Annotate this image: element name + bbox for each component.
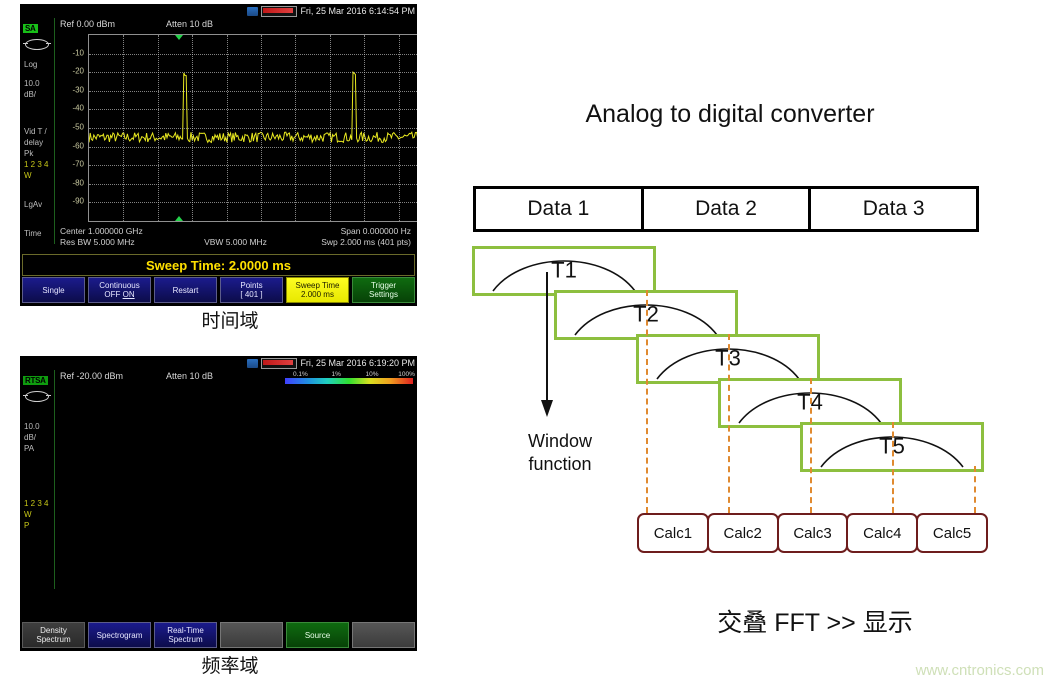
- softkey-label-line1: Continuous: [99, 281, 139, 290]
- softkey-label-line1: Density Spectrum: [23, 626, 84, 644]
- clock-label: Fri, 25 Mar 2016 6:19:20 PM: [300, 358, 415, 368]
- sidebar-item-delay: delay: [24, 138, 54, 147]
- mode-badge[interactable]: SA: [23, 24, 38, 33]
- softkey-label-line2: Settings: [369, 290, 398, 299]
- y-axis-tick: -50: [72, 123, 84, 132]
- grid-line: [158, 35, 159, 221]
- softkey-label-line2: OFF ON: [104, 290, 134, 299]
- trace-graph-sa[interactable]: [88, 34, 417, 222]
- sidebar-item-w: W: [24, 171, 54, 180]
- spectrum-analyzer-sa[interactable]: Fri, 25 Mar 2016 6:14:54 PM SA Log 10.0 …: [20, 4, 417, 306]
- attenuation-label: Atten 10 dB: [166, 19, 213, 29]
- dashed-connector: [974, 466, 976, 513]
- grid-line: [89, 165, 417, 166]
- sidebar-item-scale-unit: dB/: [24, 433, 54, 442]
- grid-line: [89, 109, 417, 110]
- softkey-button[interactable]: Spectrogram: [88, 622, 151, 648]
- footer-sa: Center 1.000000 GHz Span 0.000000 Hz Res…: [56, 226, 415, 250]
- data-blocks-row: Data 1 Data 2 Data 3: [473, 186, 979, 232]
- calc-block: Calc3: [777, 513, 849, 553]
- sidebar-item-p: P: [24, 521, 54, 530]
- data-block: Data 3: [811, 189, 976, 229]
- battery-icon: [261, 6, 297, 17]
- y-axis-tick: -60: [72, 141, 84, 150]
- calc-block: Calc5: [916, 513, 988, 553]
- softkey-button[interactable]: Single: [22, 277, 85, 303]
- softkey-label-line1: Spectrogram: [97, 631, 143, 640]
- softkey-bar-rtsa[interactable]: Density SpectrumSpectrogramReal-TimeSpec…: [22, 622, 415, 648]
- y-axis-labels-sa: -10-20-30-40-50-60-70-80-90: [56, 34, 86, 220]
- grid-line: [330, 35, 331, 221]
- grid-line: [89, 54, 417, 55]
- sweep-label: Swp 2.000 ms (401 pts): [321, 237, 411, 247]
- window-function-label-line: function: [500, 453, 620, 476]
- antenna-icon: [25, 391, 49, 402]
- softkey-label-line1: Single: [42, 286, 64, 295]
- softkey-button[interactable]: [220, 622, 283, 648]
- color-bar-tick: 100%: [398, 371, 415, 378]
- softkey-button[interactable]: [352, 622, 415, 648]
- vbw-label: VBW 5.000 MHz: [204, 237, 267, 247]
- grid-line: [399, 35, 400, 221]
- sidebar-rtsa: RTSA 10.0 dB/ PA 1 2 3 4 W P: [22, 370, 55, 589]
- watermark: www.cntronics.com: [916, 662, 1044, 679]
- grid-line: [295, 35, 296, 221]
- softkey-label-line1: Sweep Time: [295, 281, 339, 290]
- sidebar-item-lgav: LgAv: [24, 200, 54, 209]
- window-function-label-line: Window: [500, 430, 620, 453]
- system-icons-sa: Fri, 25 Mar 2016 6:14:54 PM: [247, 4, 415, 18]
- status-bar-rtsa: Fri, 25 Mar 2016 6:19:20 PM: [20, 356, 417, 370]
- window-box-label: T5: [879, 433, 905, 459]
- softkey-button[interactable]: Real-TimeSpectrum: [154, 622, 217, 648]
- y-axis-tick: -70: [72, 160, 84, 169]
- sidebar-item-vidt: Vid T /: [24, 127, 54, 136]
- color-bar-tick: 1%: [331, 371, 340, 378]
- network-icon: [247, 359, 258, 368]
- y-axis-tick: -30: [72, 85, 84, 94]
- attenuation-label: Atten 10 dB: [166, 371, 213, 381]
- grid-line: [192, 35, 193, 221]
- grid-line: [89, 184, 417, 185]
- density-color-bar: 0.1%1%10%100%: [285, 371, 413, 384]
- res-bw-label: Res BW 5.000 MHz: [60, 237, 135, 247]
- color-bar-tick: 0.1%: [293, 371, 308, 378]
- caption-time-domain: 时间域: [130, 306, 330, 333]
- softkey-label-line2: 2.000 ms: [301, 290, 334, 299]
- grid-line: [89, 202, 417, 203]
- softkey-label-line1: Source: [305, 631, 330, 640]
- sidebar-item-scale-unit: dB/: [24, 90, 54, 99]
- status-bar-sa: Fri, 25 Mar 2016 6:14:54 PM: [20, 4, 417, 18]
- mode-badge[interactable]: RTSA: [23, 376, 48, 385]
- sweep-time-banner: Sweep Time: 2.0000 ms: [22, 254, 415, 276]
- softkey-button[interactable]: Restart: [154, 277, 217, 303]
- sidebar-sa: SA Log 10.0 dB/ Vid T / delay Pk 1 2 3 4…: [22, 18, 55, 244]
- clock-label: Fri, 25 Mar 2016 6:14:54 PM: [300, 6, 415, 16]
- softkey-button[interactable]: Source: [286, 622, 349, 648]
- grid-line: [261, 35, 262, 221]
- grid-line: [89, 72, 417, 73]
- sidebar-item-pa: PA: [24, 444, 54, 453]
- sidebar-item-pk: Pk: [24, 149, 54, 158]
- sidebar-item-w: W: [24, 510, 54, 519]
- calc-blocks-row: Calc1 Calc2 Calc3 Calc4 Calc5: [637, 513, 988, 553]
- y-axis-tick: -80: [72, 178, 84, 187]
- calc-block: Calc2: [707, 513, 779, 553]
- softkey-label-line1: Real-Time: [167, 626, 204, 635]
- window-box: T1: [472, 246, 656, 296]
- sidebar-item-traces: 1 2 3 4: [24, 160, 54, 169]
- caption-frequency-domain: 频率域: [130, 651, 330, 678]
- sidebar-item-scale-value: 10.0: [24, 422, 54, 431]
- softkey-button[interactable]: TriggerSettings: [352, 277, 415, 303]
- softkey-bar-sa[interactable]: SingleContinuousOFF ONRestartPoints[ 401…: [22, 277, 415, 303]
- data-block: Data 1: [476, 189, 644, 229]
- spectrum-analyzer-rtsa[interactable]: Fri, 25 Mar 2016 6:19:20 PM RTSA 10.0 dB…: [20, 356, 417, 651]
- system-icons-rtsa: Fri, 25 Mar 2016 6:19:20 PM: [247, 356, 415, 370]
- color-bar-tick: 10%: [366, 371, 379, 378]
- ref-level-label: Ref 0.00 dBm: [60, 19, 115, 29]
- sidebar-item-traces: 1 2 3 4: [24, 499, 54, 508]
- softkey-label-line2: Spectrum: [168, 635, 202, 644]
- grid-line: [89, 91, 417, 92]
- window-box-label: T1: [551, 257, 577, 283]
- diagram-title: Analog to digital converter: [470, 100, 990, 129]
- grid-line: [89, 147, 417, 148]
- span-label: Span 0.000000 Hz: [341, 226, 411, 236]
- y-axis-tick: -40: [72, 104, 84, 113]
- data-block: Data 2: [644, 189, 812, 229]
- antenna-icon: [25, 39, 49, 50]
- bottom-caption: 交叠 FFT >> 显示: [640, 603, 990, 639]
- sidebar-item-scale-value: 10.0: [24, 79, 54, 88]
- softkey-button[interactable]: Points[ 401 ]: [220, 277, 283, 303]
- window-box-label: T2: [633, 301, 659, 327]
- y-axis-tick: -90: [72, 197, 84, 206]
- calc-block: Calc4: [846, 513, 918, 553]
- window-function-label: Windowfunction: [500, 430, 620, 476]
- softkey-button[interactable]: Density Spectrum: [22, 622, 85, 648]
- network-icon: [247, 7, 258, 16]
- calc-block: Calc1: [637, 513, 709, 553]
- window-function-arrow-icon: [535, 272, 559, 417]
- softkey-button[interactable]: ContinuousOFF ON: [88, 277, 151, 303]
- ref-level-label: Ref -20.00 dBm: [60, 371, 123, 381]
- sidebar-item-time: Time: [24, 229, 54, 238]
- center-freq-label: Center 1.000000 GHz: [60, 226, 143, 236]
- softkey-label-line1: Restart: [173, 286, 199, 295]
- sidebar-item-log: Log: [24, 60, 54, 69]
- grid-line: [364, 35, 365, 221]
- softkey-label-line2: [ 401 ]: [240, 290, 262, 299]
- reference-line-sa: Ref 0.00 dBm Atten 10 dB: [56, 18, 415, 32]
- softkey-label-line1: Points: [240, 281, 262, 290]
- grid-line: [89, 128, 417, 129]
- grid-line: [227, 35, 228, 221]
- y-axis-tick: -20: [72, 67, 84, 76]
- density-color-bar-ticks: 0.1%1%10%100%: [285, 371, 413, 378]
- window-box-label: T3: [715, 345, 741, 371]
- window-box-label: T4: [797, 389, 823, 415]
- grid-line: [123, 35, 124, 221]
- softkey-label-line1: Trigger: [371, 281, 396, 290]
- y-axis-tick: -10: [72, 48, 84, 57]
- battery-icon: [261, 358, 297, 369]
- softkey-button[interactable]: Sweep Time2.000 ms: [286, 277, 349, 303]
- density-color-bar-gradient: [285, 378, 413, 384]
